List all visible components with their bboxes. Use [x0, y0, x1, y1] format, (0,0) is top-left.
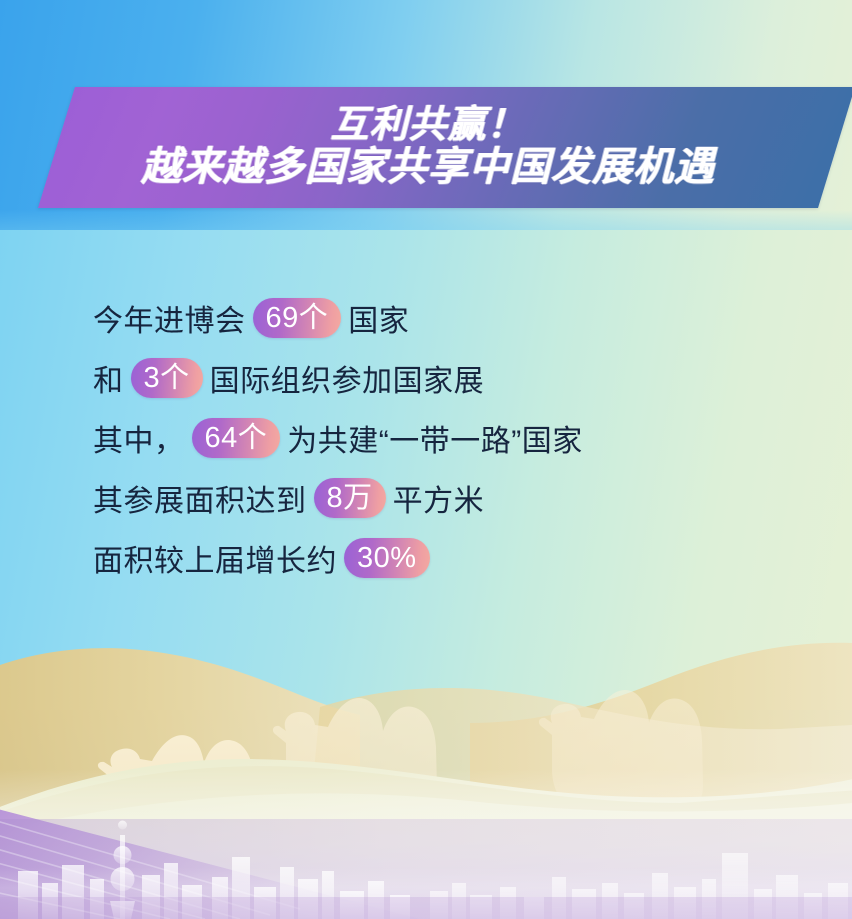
statement-line-countries: 今年进博会69个国家 [93, 288, 793, 348]
title-line-1: 互利共赢！ [330, 106, 525, 146]
statement-text: 和 [93, 356, 124, 400]
title-banner: 互利共赢！ 越来越多国家共享中国发展机遇 [38, 87, 818, 208]
highlight-pill-countries: 69个 [253, 298, 342, 338]
statement-text: 今年进博会 [93, 296, 246, 340]
statement-line-belt-and-road: 其中，64个为共建“一带一路”国家 [93, 408, 793, 468]
statement-text: 其中， [93, 416, 185, 460]
city-skyline [0, 779, 852, 919]
statement-line-growth: 面积较上届增长约30% [93, 528, 793, 588]
statement-text: 为共建“一带一路”国家 [287, 416, 582, 460]
infographic-poster: 互利共赢！ 越来越多国家共享中国发展机遇 今年进博会69个国家和3个国际组织参加… [0, 0, 852, 919]
statement-text: 国际组织参加国家展 [210, 356, 485, 400]
statement-text: 面积较上届增长约 [93, 536, 337, 580]
statement-line-organizations: 和3个国际组织参加国家展 [93, 348, 793, 408]
highlight-pill-growth: 30% [344, 538, 430, 578]
statement-text: 国家 [348, 296, 409, 340]
statement-line-exhibition-area: 其参展面积达到8万平方米 [93, 468, 793, 528]
statement-text: 其参展面积达到 [93, 476, 307, 520]
highlight-pill-belt-and-road: 64个 [192, 418, 281, 458]
title-banner-text: 互利共赢！ 越来越多国家共享中国发展机遇 [38, 87, 818, 208]
highlight-pill-organizations: 3个 [131, 358, 203, 398]
statement-text: 平方米 [393, 476, 485, 520]
highlight-pill-exhibition-area: 8万 [314, 478, 386, 518]
statement-list: 今年进博会69个国家和3个国际组织参加国家展其中，64个为共建“一带一路”国家其… [93, 288, 793, 588]
title-line-2: 越来越多国家共享中国发展机遇 [141, 147, 715, 189]
